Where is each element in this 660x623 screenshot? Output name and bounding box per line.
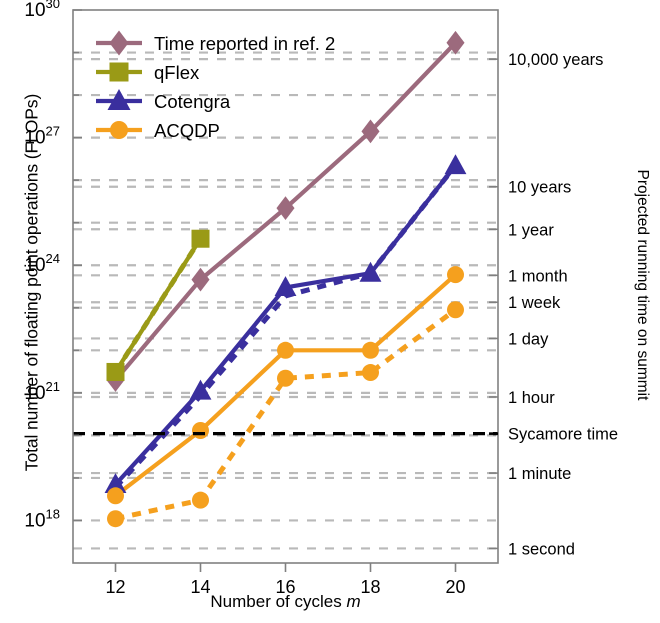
x-axis-title-symbol: m xyxy=(346,592,360,611)
data-point-marker xyxy=(192,492,209,509)
data-point-marker xyxy=(110,63,129,82)
x-axis-title-text: Number of cycles xyxy=(210,592,346,611)
data-point-marker xyxy=(110,121,128,139)
right-tick-label: 1 day xyxy=(508,330,549,348)
y-tick-exponent: 24 xyxy=(46,251,60,266)
data-point-marker xyxy=(192,230,210,248)
right-tick-label: 1 year xyxy=(508,221,554,239)
data-point-marker xyxy=(445,154,467,174)
x-axis-ticks xyxy=(116,563,456,572)
right-axis-tick-labels: 10,000 years10 years1 year1 month1 week1… xyxy=(508,51,618,558)
data-point-marker xyxy=(277,370,294,387)
y-axis-ticks xyxy=(73,10,82,520)
legend: Time reported in ref. 2qFlexCotengraACQD… xyxy=(96,31,335,142)
chart-svg: 10181021102410271030 10,000 years10 year… xyxy=(0,0,660,623)
legend-label: Time reported in ref. 2 xyxy=(154,33,335,54)
figure-container: 10181021102410271030 10,000 years10 year… xyxy=(0,0,660,623)
y-tick-exponent: 21 xyxy=(46,379,60,394)
legend-label: Cotengra xyxy=(154,91,231,112)
legend-item[interactable]: Cotengra xyxy=(96,89,231,112)
data-point-marker xyxy=(192,422,209,439)
y-axis-title: Total number of floating point operation… xyxy=(22,23,43,543)
y-tick-exponent: 18 xyxy=(46,506,60,521)
series-line xyxy=(116,310,456,519)
data-point-marker xyxy=(277,342,294,359)
data-point-marker xyxy=(107,510,124,527)
legend-label: qFlex xyxy=(154,62,200,83)
legend-label: ACQDP xyxy=(154,120,220,141)
x-axis-title: Number of cycles m xyxy=(73,592,498,612)
right-tick-label: 1 minute xyxy=(508,465,571,483)
y-tick-exponent: 30 xyxy=(46,0,60,11)
right-axis-title: Projected running time on summit xyxy=(633,105,651,465)
data-point-marker xyxy=(447,266,464,283)
right-tick-label: 1 second xyxy=(508,540,575,558)
right-tick-label: 10 years xyxy=(508,179,571,197)
y-tick-base: 10 xyxy=(24,0,45,21)
data-point-marker xyxy=(362,364,379,381)
data-point-marker xyxy=(107,487,124,504)
right-axis-ticks xyxy=(489,59,498,548)
y-tick-exponent: 27 xyxy=(46,124,60,139)
gridlines xyxy=(73,53,498,549)
legend-item[interactable]: qFlex xyxy=(96,62,200,83)
data-point-marker xyxy=(447,301,464,318)
data-point-marker xyxy=(107,363,125,381)
y-tick-label: 1030 xyxy=(24,0,60,21)
right-tick-label: 1 hour xyxy=(508,389,555,407)
right-tick-label: 1 month xyxy=(508,267,568,285)
right-tick-label: 1 week xyxy=(508,294,561,312)
right-tick-label: Sycamore time xyxy=(508,426,618,444)
data-point-marker xyxy=(362,342,379,359)
right-tick-label: 10,000 years xyxy=(508,51,603,69)
